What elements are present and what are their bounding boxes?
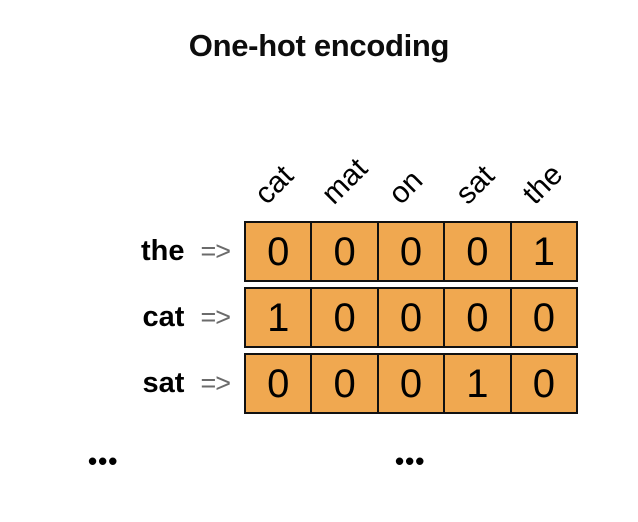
page-title: One-hot encoding bbox=[0, 30, 638, 61]
column-header-label: mat bbox=[317, 153, 374, 210]
table-row: 0 0 0 1 0 bbox=[244, 353, 578, 414]
row-label-the: the => bbox=[40, 221, 244, 282]
row-word: sat bbox=[143, 369, 185, 398]
row-word: cat bbox=[143, 303, 185, 332]
row-label-cat: cat => bbox=[40, 287, 244, 348]
arrow-icon: => bbox=[200, 238, 230, 265]
matrix-cell: 1 bbox=[244, 287, 311, 348]
column-header-label: on bbox=[384, 165, 429, 210]
matrix-cell: 0 bbox=[311, 221, 377, 282]
column-header-label: sat bbox=[451, 160, 501, 210]
row-label-column: the => cat => sat => bbox=[40, 221, 244, 419]
column-header-label: cat bbox=[250, 160, 300, 210]
column-header-cat: cat bbox=[244, 118, 311, 212]
table-row: 0 0 0 0 1 bbox=[244, 221, 578, 282]
matrix-cell: 0 bbox=[378, 287, 444, 348]
matrix-cell: 0 bbox=[311, 287, 377, 348]
matrix-cell: 0 bbox=[244, 221, 311, 282]
matrix-cell: 0 bbox=[378, 221, 444, 282]
matrix-cell: 0 bbox=[511, 353, 578, 414]
column-header-row: cat mat on sat the bbox=[244, 118, 578, 212]
matrix-cell: 0 bbox=[444, 287, 510, 348]
matrix-cell: 0 bbox=[244, 353, 311, 414]
matrix-cell: 0 bbox=[311, 353, 377, 414]
table-row: 1 0 0 0 0 bbox=[244, 287, 578, 348]
column-header-sat: sat bbox=[444, 118, 511, 212]
one-hot-matrix: 0 0 0 0 1 1 0 0 0 0 0 0 0 1 0 bbox=[244, 221, 578, 419]
column-header-the: the bbox=[511, 118, 578, 212]
row-label-sat: sat => bbox=[40, 353, 244, 414]
column-header-on: on bbox=[378, 118, 445, 212]
column-header-mat: mat bbox=[311, 118, 378, 212]
arrow-icon: => bbox=[200, 370, 230, 397]
matrix-cell: 0 bbox=[511, 287, 578, 348]
ellipsis-rows: ••• bbox=[88, 448, 118, 474]
matrix-cell: 0 bbox=[444, 221, 510, 282]
matrix-cell: 1 bbox=[511, 221, 578, 282]
matrix-cell: 0 bbox=[378, 353, 444, 414]
arrow-icon: => bbox=[200, 304, 230, 331]
row-word: the bbox=[141, 237, 185, 266]
ellipsis-matrix: ••• bbox=[395, 448, 425, 474]
matrix-cell: 1 bbox=[444, 353, 510, 414]
column-header-label: the bbox=[517, 159, 568, 210]
